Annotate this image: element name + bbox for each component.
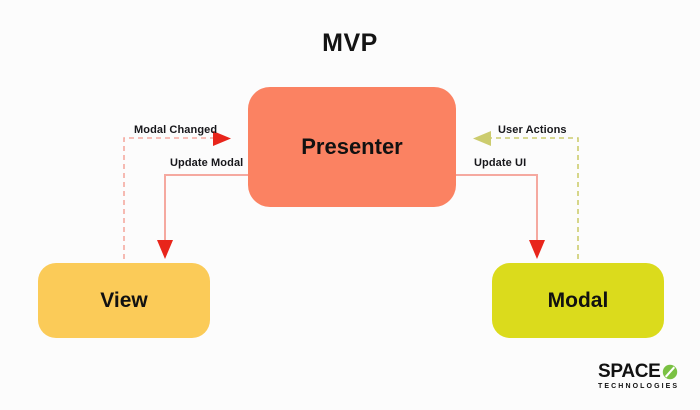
node-presenter[interactable]: Presenter [248,87,456,207]
edge-label-update-modal: Update Modal [170,157,243,169]
edge-user-actions [473,131,578,277]
edge-update-ui [456,175,545,259]
edge-label-modal-changed: Modal Changed [134,124,217,136]
edge-update-ui-arrowhead [529,240,545,259]
edge-update-modal [157,175,248,259]
node-presenter-label: Presenter [301,134,403,160]
node-modal-label: Modal [548,289,609,313]
edge-update-modal-arrowhead [157,240,173,259]
edge-modal-changed [124,131,231,277]
edge-label-update-ui: Update UI [474,157,526,169]
brand-logo-word: SPACE [598,362,684,381]
node-view[interactable]: View [38,263,210,338]
edge-update-modal-line [165,175,248,240]
node-modal[interactable]: Modal [492,263,664,338]
diagram-canvas: MVP Presenter View Modal Modal Change [0,0,700,410]
brand-logo-subtitle: TECHNOLOGIES [598,383,684,390]
slashed-circle-icon [662,364,678,380]
node-view-label: View [100,289,147,313]
edge-label-user-actions: User Actions [498,124,567,136]
edge-user-actions-arrowhead [473,131,491,146]
edge-update-ui-line [456,175,537,240]
brand-logo-text: SPACE [598,362,661,381]
brand-logo: SPACE TECHNOLOGIES [598,362,684,394]
